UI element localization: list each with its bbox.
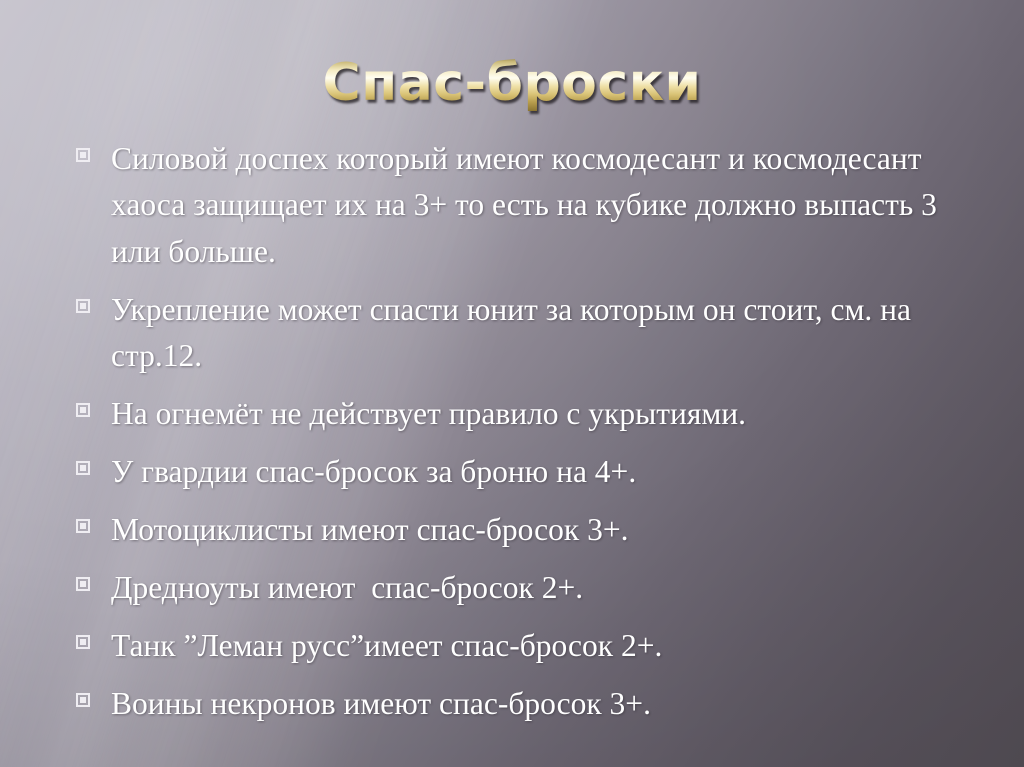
list-item-label: У гвардии спас-бросок за броню на 4+. <box>111 449 988 495</box>
list-item: Силовой доспех который имеют космодесант… <box>76 136 988 275</box>
filled-square-bullet-icon <box>76 403 90 417</box>
list-item: Воины некронов имеют спас-бросок 3+. <box>76 681 988 727</box>
filled-square-bullet-icon <box>76 148 90 162</box>
list-item: Укрепление может спасти юнит за которым … <box>76 287 988 380</box>
list-item-label: Укрепление может спасти юнит за которым … <box>111 287 988 380</box>
presentation-slide: Спас-броски Силовой доспех который имеют… <box>0 0 1024 767</box>
list-item: Мотоциклисты имеют спас-бросок 3+. <box>76 507 988 553</box>
filled-square-bullet-icon <box>76 693 90 707</box>
list-item-label: На огнемёт не действует правило с укрыти… <box>111 391 988 437</box>
filled-square-bullet-icon <box>76 577 90 591</box>
filled-square-bullet-icon <box>76 461 90 475</box>
list-item: Дредноуты имеют спас-бросок 2+. <box>76 565 988 611</box>
list-item-label: Силовой доспех который имеют космодесант… <box>111 136 988 275</box>
slide-body-bullet-list: Силовой доспех который имеют космодесант… <box>76 136 988 739</box>
list-item-label: Мотоциклисты имеют спас-бросок 3+. <box>111 507 988 553</box>
filled-square-bullet-icon <box>76 635 90 649</box>
list-item: На огнемёт не действует правило с укрыти… <box>76 391 988 437</box>
filled-square-bullet-icon <box>76 519 90 533</box>
list-item-label: Дредноуты имеют спас-бросок 2+. <box>111 565 988 611</box>
filled-square-bullet-icon <box>76 299 90 313</box>
list-item: У гвардии спас-бросок за броню на 4+. <box>76 449 988 495</box>
slide-title-container: Спас-броски <box>0 56 1024 111</box>
list-item: Танк ”Леман русс”имеет спас-бросок 2+. <box>76 623 988 669</box>
list-item-label: Танк ”Леман русс”имеет спас-бросок 2+. <box>111 623 988 669</box>
list-item-label: Воины некронов имеют спас-бросок 3+. <box>111 681 988 727</box>
slide-title: Спас-броски <box>323 56 702 111</box>
